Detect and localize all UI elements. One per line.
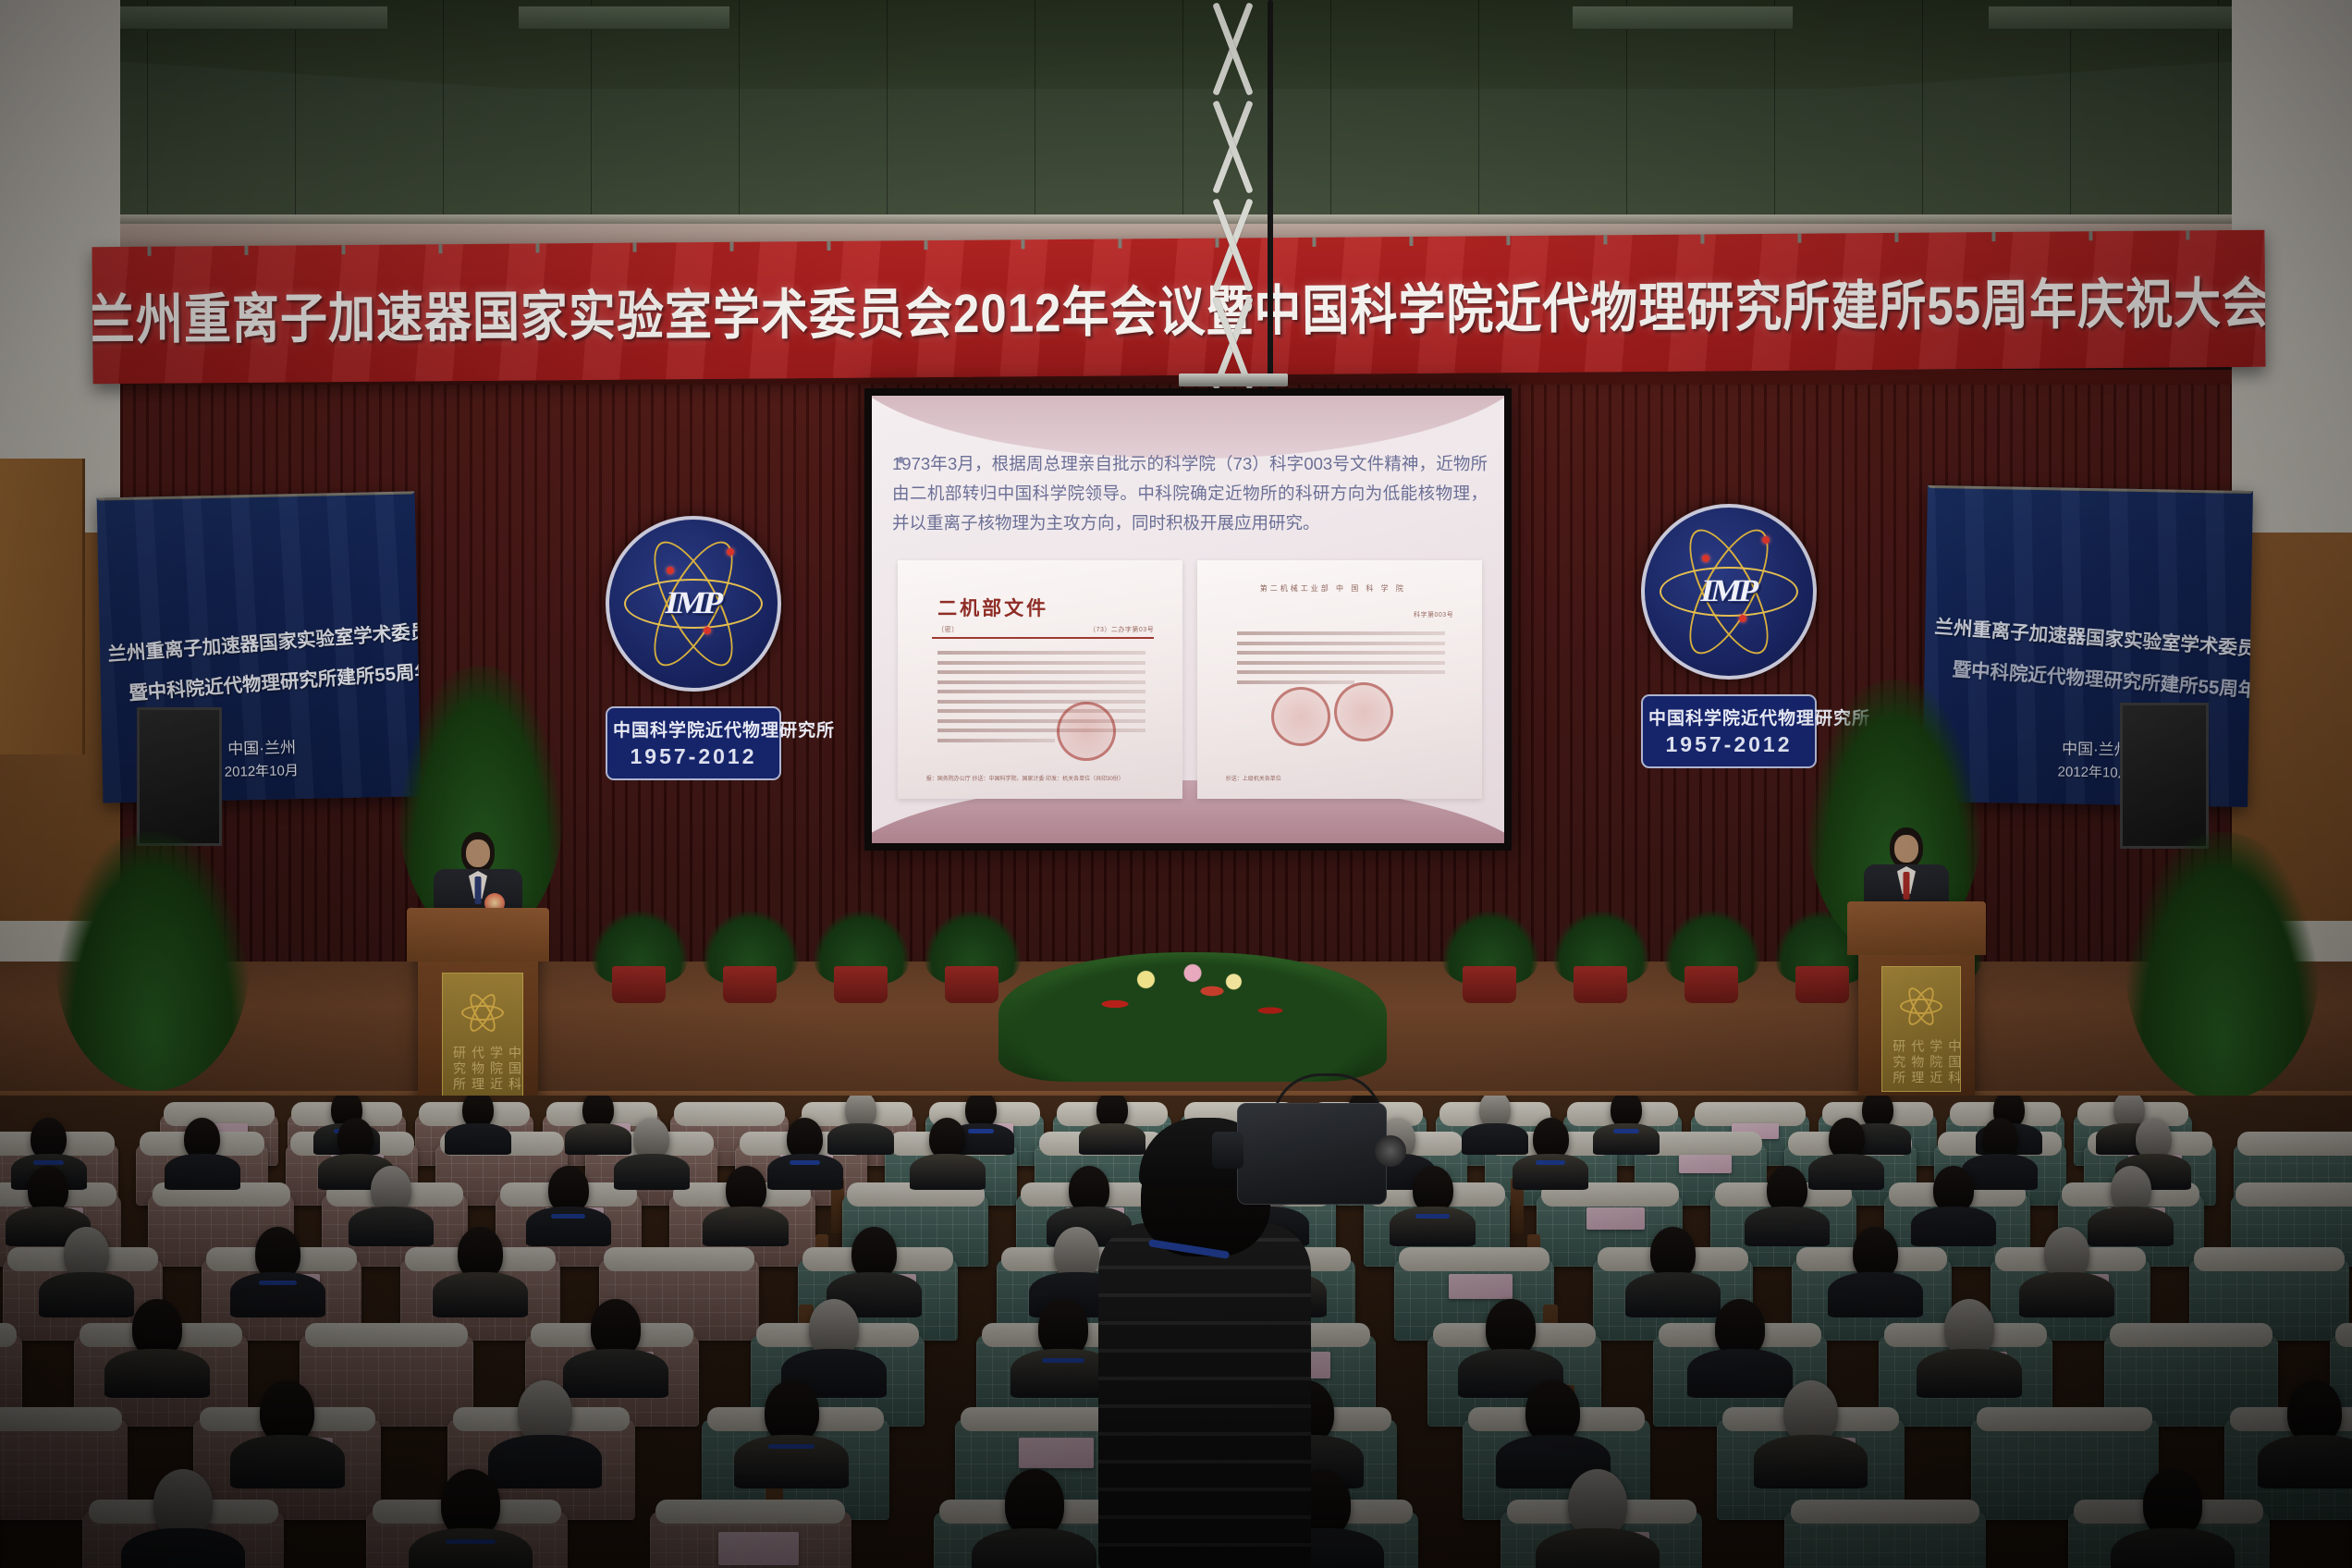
audience-head [765, 1380, 819, 1443]
red-seal-icon-2 [1271, 687, 1330, 746]
flower-pot [612, 966, 666, 1003]
ceiling-panel [1035, 0, 1183, 236]
audience-shoulders [972, 1528, 1096, 1568]
ceiling-panel [1331, 0, 1479, 236]
audience-shoulders [488, 1435, 603, 1488]
audience-shoulders [1687, 1349, 1792, 1398]
ceiling-panel [1923, 0, 2071, 236]
attendee-lanyard [1613, 1129, 1640, 1133]
red-seal-icon [1057, 702, 1116, 761]
ceiling-panel [1479, 0, 1627, 236]
audience-shoulders [445, 1123, 510, 1155]
audience-head [518, 1380, 572, 1443]
seat-headrest [2335, 1323, 2352, 1347]
loudspeaker-left [137, 707, 222, 846]
audience-shoulders [910, 1154, 986, 1190]
document-text-line [1237, 661, 1445, 665]
document-text-line [937, 651, 1145, 655]
slide-document-images: 二机部文件 〔密〕 （73）二办字第03号 报：国务院办公厅 抄送：中国科学院、… [898, 560, 1482, 799]
attendee-lanyard [1536, 1160, 1566, 1165]
red-seal-icon-3 [1334, 682, 1393, 741]
attendee-lanyard [259, 1280, 297, 1285]
audience-shoulders [1911, 1207, 1996, 1247]
loudspeaker-right [2120, 703, 2209, 849]
document-text-line [937, 709, 1145, 713]
slide-text-block: 1973年3月，根据周总理亲自批示的科学院（73）科字003号文件精神，近物所由… [892, 449, 1488, 537]
seat-headrest [655, 1500, 845, 1524]
blue-banner-city: 中国·兰州 [227, 734, 296, 759]
document-text-line [937, 739, 1054, 742]
imp-acronym: IMP [662, 586, 725, 621]
electron-dot [727, 548, 734, 556]
flower-pot [834, 966, 888, 1003]
side-door[interactable] [0, 459, 85, 754]
ceiling-panel [444, 0, 592, 236]
document-text-line [937, 680, 1145, 684]
document-text-line [1237, 631, 1445, 635]
emblem-nameplate: 中国科学院近代物理研究所 1957-2012 [606, 706, 781, 780]
seat-headrest [674, 1102, 785, 1126]
document-text-line [937, 661, 1145, 665]
flower-pot [1463, 966, 1516, 1003]
audience-shoulders [2088, 1207, 2173, 1247]
document-text-line [1237, 642, 1445, 645]
document-text-line [937, 690, 1145, 693]
seat-headrest [305, 1323, 469, 1347]
lift-mount-plate [1179, 374, 1288, 386]
attendee-lanyard [551, 1214, 585, 1219]
document-code-left: 〔密〕 [937, 625, 959, 634]
scissor-arms-icon [1186, 0, 1279, 398]
banner-clip [1991, 230, 1995, 241]
electron-dot [1762, 536, 1770, 544]
ceiling-panel [2071, 0, 2219, 236]
seat-headrest [604, 1247, 754, 1271]
audience-head [1525, 1380, 1580, 1443]
ceiling-vent [111, 6, 388, 30]
blue-banner-line2-2: 暨中科院近代物理研究所建所55周年庆祝大会 [1952, 654, 2253, 708]
seat-document [1679, 1155, 1732, 1173]
emblem-nameplate-2: 中国科学院近代物理研究所 1957-2012 [1641, 694, 1817, 768]
speaker-head-2 [1890, 827, 1923, 868]
projector-lift [1179, 0, 1288, 442]
flower-pot [1795, 966, 1849, 1003]
audience-head [260, 1380, 314, 1443]
projection-screen-frame: 1973年3月，根据周总理亲自批示的科学院（73）科字003号文件精神，近物所由… [864, 388, 1512, 851]
document-body-lines [937, 651, 1154, 748]
blue-banner-line2: 暨中科院近代物理研究所建所55周年庆祝大会 [128, 650, 421, 705]
document-text-line [1237, 651, 1445, 655]
attendee-lanyard [1042, 1358, 1084, 1363]
audience-shoulders [734, 1435, 849, 1488]
audience-shoulders [433, 1272, 528, 1317]
audience-shoulders [1536, 1528, 1660, 1568]
audience-shoulders [104, 1349, 209, 1398]
flower-pot [945, 966, 998, 1003]
audience-shoulders [2111, 1528, 2235, 1568]
cameraman-body [1098, 1223, 1311, 1568]
document-body-lines-2 [1237, 631, 1453, 690]
potted-palm-far-right [2125, 832, 2320, 1100]
audience-shoulders [1390, 1207, 1475, 1247]
audience-shoulders [1513, 1154, 1588, 1190]
scanned-document-left: 二机部文件 〔密〕 （73）二办字第03号 报：国务院办公厅 抄送：中国科学院、… [898, 560, 1182, 799]
audience-shoulders [563, 1349, 668, 1398]
seat-headrest [1977, 1407, 2153, 1431]
document-text-line [937, 670, 1145, 674]
audience-shoulders [165, 1154, 240, 1190]
ceiling [0, 0, 2352, 236]
podium-atom-icon-2 [1897, 982, 1945, 1030]
ceiling-panel [148, 0, 296, 236]
document-code-row: 〔密〕 （73）二办字第03号 [937, 625, 1154, 634]
anniversary-years-2: 1957-2012 [1648, 732, 1809, 757]
blue-banner-date: 2012年10月 [225, 760, 299, 781]
podium-right[interactable]: 中国科学院近代物理研究所 [1858, 901, 1975, 1097]
podium-top-surface-2 [1847, 901, 1986, 955]
audience-shoulders [827, 1123, 893, 1155]
document-text-line [937, 700, 1145, 704]
ceiling-panel [1627, 0, 1775, 236]
attendee-lanyard [968, 1129, 995, 1133]
banner-clip [2186, 230, 2189, 240]
video-camera-icon[interactable] [1237, 1103, 1387, 1205]
audience-shoulders [767, 1154, 843, 1190]
document-header: 第二机械工业部 中 国 科 学 院 [1260, 582, 1406, 597]
audience-seat[interactable] [650, 1512, 851, 1568]
slide-bullet-text: 1973年3月，根据周总理亲自批示的科学院（73）科字003号文件精神，近物所由… [892, 454, 1488, 533]
ceiling-panel [740, 0, 888, 236]
attendee-lanyard [768, 1444, 815, 1449]
ceiling-panel [1775, 0, 1923, 236]
seat-headrest [2110, 1323, 2273, 1347]
bullet-icon [898, 457, 904, 463]
imp-emblem-left: IMP 中国科学院近代物理研究所 1957-2012 [606, 516, 781, 780]
audience-shoulders [230, 1435, 345, 1488]
audience-shoulders [1593, 1123, 1659, 1155]
seat-document [718, 1532, 799, 1565]
document-code-right: （73）二办字第03号 [1089, 625, 1154, 634]
blue-banner-line1: 兰州重离子加速器国家实验室学术委员会2012年会议 [106, 606, 421, 667]
attendee-lanyard [33, 1160, 64, 1165]
document-code-right-2: 科字第003号 [1414, 610, 1453, 619]
podium-institute-text: 中国科学院近代物理研究所 [450, 1046, 524, 1103]
audience-shoulders [1625, 1272, 1721, 1317]
institute-name: 中国科学院近代物理研究所 [613, 717, 774, 741]
document-footer-2: 抄送：上级机关各单位 [1226, 774, 1281, 785]
audience-shoulders [2258, 1435, 2352, 1488]
speaker-tie [475, 876, 482, 904]
seat-document [1586, 1207, 1645, 1229]
seat-headrest [2194, 1247, 2345, 1271]
ceiling-panel [296, 0, 444, 236]
seat-document [1449, 1274, 1513, 1298]
audience-shoulders [1917, 1349, 2021, 1398]
imp-acronym-2: IMP [1697, 574, 1760, 609]
podium-atom-icon [459, 988, 507, 1036]
blue-banner-line1-2: 兰州重离子加速器国家实验室学术委员会2012年会议 [1934, 611, 2253, 669]
audience-shoulders [565, 1123, 631, 1155]
institute-name-2: 中国科学院近代物理研究所 [1648, 704, 1809, 729]
ceiling-vent [518, 6, 730, 30]
scanned-document-right: 第二机械工业部 中 国 科 学 院 科字第003号 抄送：上级机关各单位 [1197, 560, 1482, 799]
audience-shoulders [1808, 1154, 1884, 1190]
podium-left[interactable]: 中国科学院近代物理研究所 [418, 908, 538, 1109]
ceiling-panel [592, 0, 740, 236]
audience-head [1783, 1380, 1838, 1443]
ceiling-panel [888, 0, 1035, 236]
document-text-line [1237, 670, 1445, 674]
audience-shoulders [526, 1207, 611, 1247]
audience-shoulders [230, 1272, 325, 1317]
imp-emblem-right: IMP 中国科学院近代物理研究所 1957-2012 [1641, 504, 1817, 768]
camera-lens-icon [1375, 1135, 1406, 1167]
banner-clip [2089, 230, 2092, 240]
speaker-face [466, 839, 490, 867]
lift-cable [1268, 0, 1273, 435]
speaker-tie-2 [1904, 872, 1910, 900]
anniversary-years: 1957-2012 [613, 744, 774, 769]
seat-headrest [1791, 1500, 1980, 1524]
cameraman [1082, 1086, 1359, 1568]
seat-headrest [0, 1407, 122, 1431]
audience-shoulders [614, 1154, 690, 1190]
audience-head [2287, 1380, 2342, 1443]
audience-shoulders [121, 1528, 245, 1568]
document-text-line [1237, 680, 1354, 684]
audience-shoulders [1754, 1435, 1868, 1488]
ceiling-vent [1572, 6, 1794, 30]
ceiling-rail [0, 214, 2352, 224]
podium-nameplate-2: 中国科学院近代物理研究所 [1881, 966, 1961, 1092]
seat-headrest [2237, 1132, 2352, 1156]
audience-shoulders [1745, 1207, 1830, 1247]
flower-pot [1574, 966, 1627, 1003]
audience-shoulders [1828, 1272, 1923, 1317]
potted-palm-far-left [55, 832, 250, 1091]
podium-institute-text-2: 中国科学院近代物理研究所 [1890, 1039, 1964, 1091]
document-code-row-2: 科字第003号 [1237, 610, 1453, 619]
electron-dot [1702, 555, 1709, 562]
seat-headrest [2236, 1182, 2352, 1207]
ceiling-vent [1988, 6, 2265, 30]
document-footer: 报：国务院办公厅 抄送：中国科学院、国家计委 印发：机关各单位（共印30份） [926, 774, 1124, 785]
document-title: 二机部文件 [937, 594, 1048, 621]
conference-hall-photo: 兰州重离子加速器国家实验室学术委员会2012年会议暨中国科学院近代物理研究所建所… [0, 0, 2352, 1568]
speaker-head [461, 832, 495, 873]
document-rule [932, 637, 1154, 639]
podium-top-surface [407, 908, 549, 962]
atom-logo-icon-2: IMP [1641, 504, 1817, 680]
speaker-face-2 [1894, 835, 1918, 863]
audience-shoulders [1462, 1123, 1527, 1155]
audience-shoulders [349, 1207, 434, 1247]
attendee-lanyard [790, 1160, 820, 1165]
seat-headrest [1399, 1247, 1550, 1271]
audience-shoulders [703, 1207, 788, 1247]
flower-pot [723, 966, 777, 1003]
audience-seat[interactable] [1784, 1512, 1986, 1568]
flower-pot [1684, 966, 1738, 1003]
electron-dot [667, 567, 674, 574]
attendee-lanyard [446, 1539, 496, 1544]
attendee-lanyard [1415, 1214, 1450, 1219]
audience-shoulders [2019, 1272, 2114, 1317]
podium-nameplate: 中国科学院近代物理研究所 [442, 973, 523, 1104]
stage-flower-arrangement [998, 952, 1387, 1082]
audience-shoulders [409, 1528, 533, 1568]
projection-screen: 1973年3月，根据周总理亲自批示的科学院（73）科字003号文件精神，近物所由… [872, 396, 1504, 843]
audience-shoulders [39, 1272, 134, 1317]
atom-logo-icon: IMP [606, 516, 781, 692]
